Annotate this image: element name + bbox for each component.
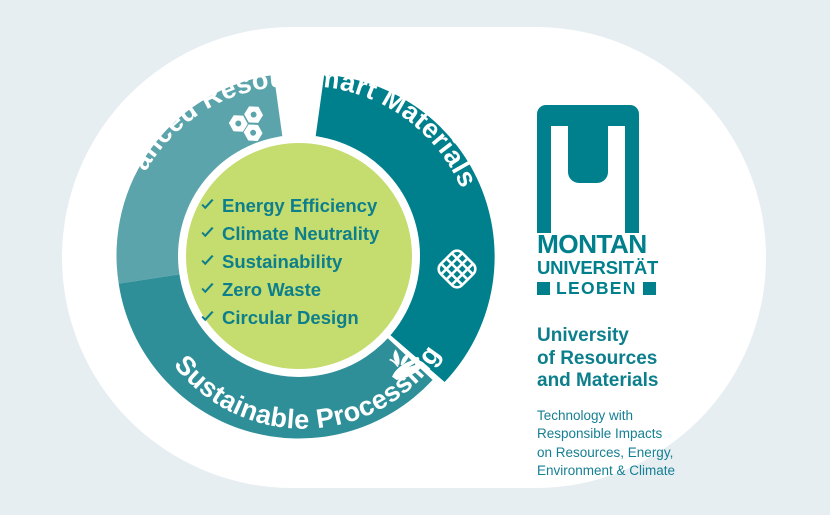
list-item-label: Energy Efficiency [222, 193, 377, 218]
list-item: Circular Design [200, 305, 415, 330]
list-item: Energy Efficiency [200, 193, 415, 218]
brand-tagline-line: Technology with [537, 407, 777, 426]
list-item-label: Zero Waste [222, 277, 321, 302]
brand-tagline-line: Responsible Impacts [537, 425, 777, 444]
brand-tagline: Technology with Responsible Impacts on R… [537, 407, 777, 481]
logo-universitaet-text: UNIVERSITÄT [537, 258, 639, 278]
logo-arch-foot [568, 161, 608, 183]
brand-headline-line: of Resources [537, 348, 777, 371]
check-icon [200, 254, 215, 269]
montanuniversitaet-m-mark-icon [537, 105, 639, 233]
check-icon [200, 198, 215, 213]
list-item: Climate Neutrality [200, 221, 415, 246]
list-item-label: Climate Neutrality [222, 221, 379, 246]
square-bullet-icon [537, 282, 550, 295]
list-item-label: Circular Design [222, 305, 359, 330]
list-item-label: Sustainability [222, 249, 342, 274]
brand-tagline-line: on Resources, Energy, [537, 444, 777, 463]
brand-headline: University of Resources and Materials [537, 325, 777, 393]
logo-negative-left [551, 126, 568, 233]
brand-headline-line: University [537, 325, 777, 348]
square-bullet-icon [643, 282, 656, 295]
list-item: Zero Waste [200, 277, 415, 302]
brand-block: MONTAN UNIVERSITÄT LEOBEN University of … [537, 105, 777, 481]
list-item: Sustainability [200, 249, 415, 274]
logo-leoben-row: LEOBEN [537, 280, 639, 297]
logo-negative-right [608, 126, 625, 233]
brand-headline-line: and Materials [537, 370, 777, 393]
check-icon [200, 282, 215, 297]
logo-leoben-text: LEOBEN [556, 280, 637, 297]
logo-wordmark: MONTAN UNIVERSITÄT LEOBEN [537, 233, 639, 297]
infographic-canvas: Advanced Resources Smart Materials Susta… [0, 0, 830, 515]
center-benefit-list: Energy Efficiency Climate Neutrality Sus… [200, 193, 415, 333]
logo-montan-text: MONTAN [537, 233, 642, 258]
check-icon [200, 226, 215, 241]
brand-tagline-line: Environment & Climate [537, 462, 777, 481]
check-icon [200, 310, 215, 325]
